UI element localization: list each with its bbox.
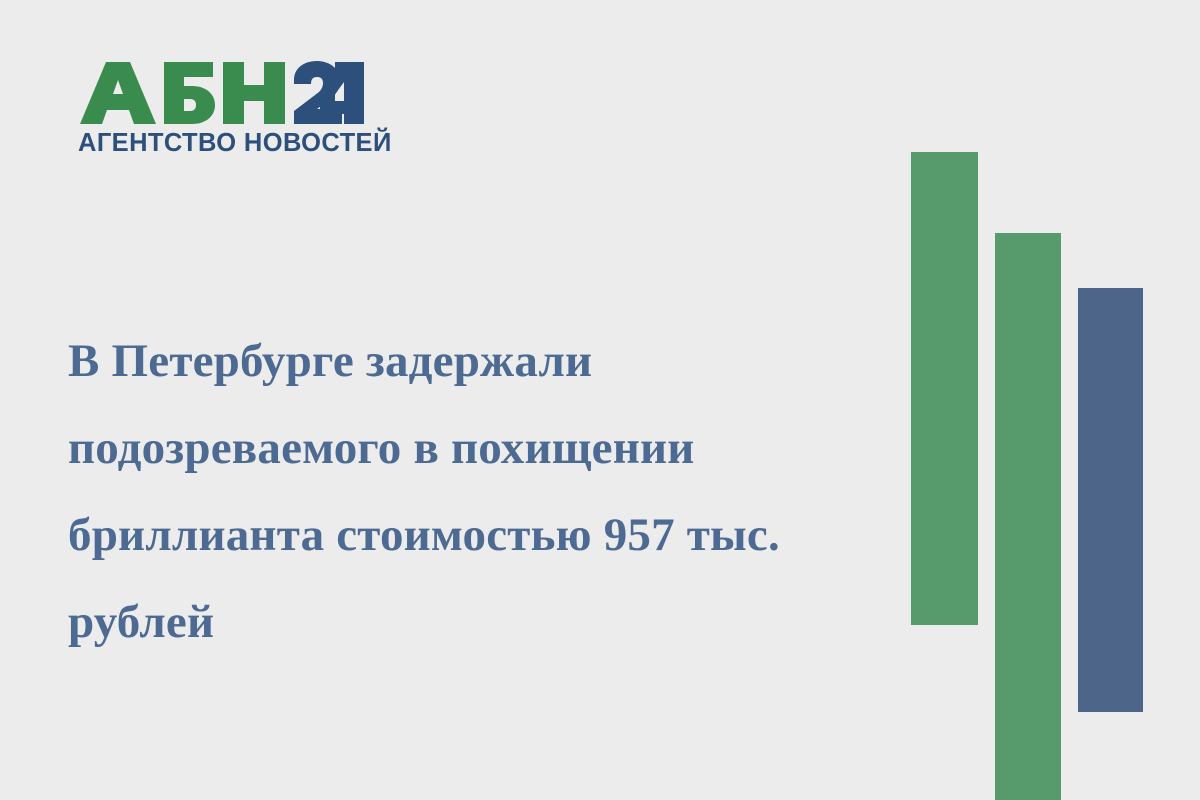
- chart-bar-3: [1078, 288, 1143, 712]
- news-card: АГЕНТСТВО НОВОСТЕЙ В Петербурге задержал…: [0, 0, 1200, 800]
- logo-subtitle: АГЕНТСТВО НОВОСТЕЙ: [78, 131, 368, 157]
- chart-bar-2: [995, 233, 1061, 800]
- site-logo[interactable]: АГЕНТСТВО НОВОСТЕЙ: [78, 60, 368, 157]
- abn24-logo-icon: [78, 60, 368, 126]
- chart-bar-1: [911, 152, 978, 625]
- page-title: В Петербурге задержали подозреваемого в …: [68, 318, 868, 666]
